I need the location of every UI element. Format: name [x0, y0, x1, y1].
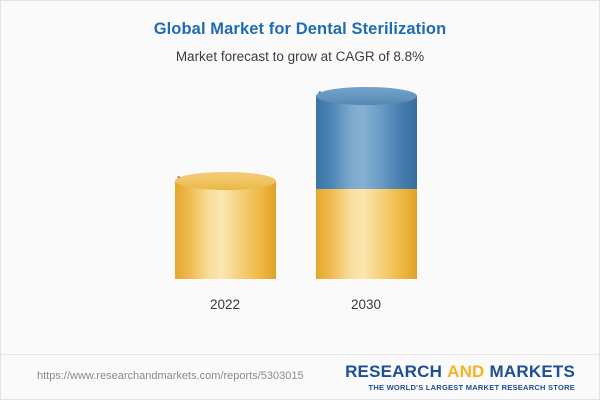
- chart-plot-area: USD 1.4 Billion 2022 USD 2.7 Billion: [1, 1, 600, 356]
- cylinder-cap: [175, 172, 276, 190]
- cylinder-cap: [316, 87, 417, 105]
- chart-footer: https://www.researchandmarkets.com/repor…: [1, 354, 600, 399]
- category-label-2030: 2030: [286, 296, 446, 313]
- cylinder-segment-2030-blue: [316, 96, 417, 189]
- logo-word-markets: MARKETS: [490, 362, 575, 381]
- cylinder-body: [316, 96, 417, 189]
- cylinder-body: [175, 181, 276, 279]
- cylinder-2030[interactable]: [316, 189, 417, 279]
- logo-word-research: RESEARCH: [345, 362, 442, 381]
- cylinder-segment-2022-gold: [175, 181, 276, 279]
- cylinder-segment-2030-gold: [316, 189, 417, 279]
- cylinder-2022[interactable]: [175, 181, 276, 279]
- research-and-markets-logo[interactable]: RESEARCHANDMARKETS THE WORLD'S LARGEST M…: [345, 362, 575, 393]
- logo-tagline: THE WORLD'S LARGEST MARKET RESEARCH STOR…: [345, 383, 575, 393]
- category-label-2022: 2022: [145, 296, 305, 313]
- cylinder-body: [316, 189, 417, 279]
- report-url[interactable]: https://www.researchandmarkets.com/repor…: [37, 369, 304, 384]
- logo-wordmark: RESEARCHANDMARKETS: [345, 362, 575, 382]
- chart-card: Global Market for Dental Sterilization M…: [0, 0, 600, 400]
- logo-word-and: AND: [447, 362, 484, 381]
